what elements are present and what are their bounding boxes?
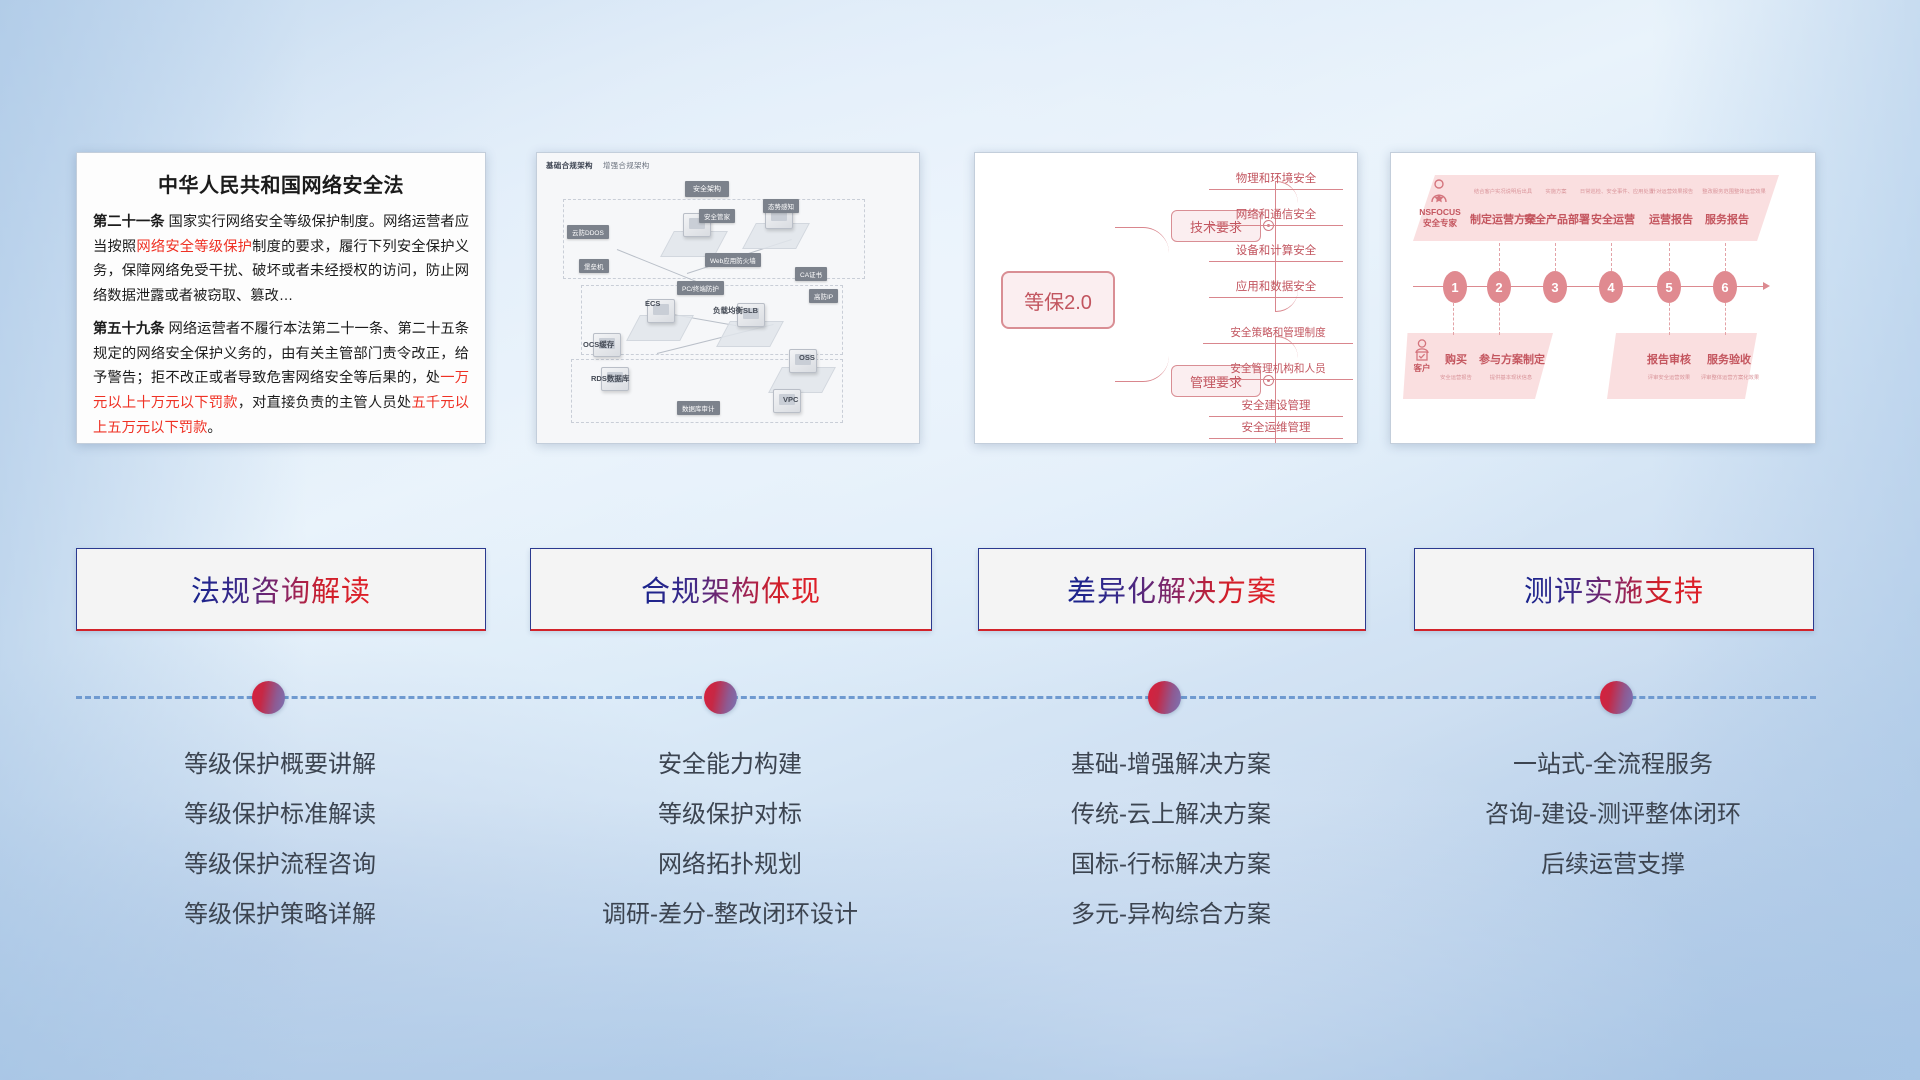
- timeline-dot-3[interactable]: [1148, 681, 1181, 714]
- mindmap-leaf-mgmt-3: 安全建设管理: [1209, 397, 1343, 417]
- customer-main-2: 参与方案制定: [1479, 351, 1543, 367]
- customer-sub-2: 提供基本现状信息: [1477, 373, 1545, 381]
- timeline-node-6[interactable]: 6: [1713, 271, 1737, 303]
- list-item: 传统-云上解决方案: [978, 790, 1364, 840]
- architecture-chip-4: Web应用防火墙: [705, 253, 761, 267]
- list-item: 后续运营支撑: [1414, 840, 1812, 890]
- mindmap-root-curve-bottom: [1115, 297, 1169, 382]
- law-paragraph-2: 第五十九条 网络运营者不履行本法第二十一条、第二十五条规定的网络安全保护义务的，…: [93, 317, 469, 440]
- list-item: 一站式-全流程服务: [1414, 740, 1812, 790]
- law-article-number-1: 第二十一条: [93, 214, 165, 230]
- slide-stage: 中华人民共和国网络安全法 第二十一条 国家实行网络安全等级保护制度。网络运营者应…: [0, 0, 1920, 1080]
- timeline-arrow-icon: [1763, 282, 1770, 290]
- law-seg-2-4: 。: [207, 420, 221, 436]
- timeline-dot-4[interactable]: [1600, 681, 1633, 714]
- timeline-dashed-line: [76, 696, 1816, 699]
- mindmap-root-curve-top: [1115, 227, 1169, 300]
- list-item: 多元-异构综合方案: [978, 890, 1364, 940]
- list-item: 等级保护概要讲解: [76, 740, 484, 790]
- law-card-body: 第二十一条 国家实行网络安全等级保护制度。网络运营者应当按照网络安全等级保护制度…: [77, 210, 485, 440]
- security-expert-icon: [1429, 179, 1449, 203]
- thumbnail-card-row: 中华人民共和国网络安全法 第二十一条 国家实行网络安全等级保护制度。网络运营者应…: [0, 0, 1920, 460]
- list-item: 基础-增强解决方案: [978, 740, 1364, 790]
- list-item: 等级保护流程咨询: [76, 840, 484, 890]
- list-item: 等级保护对标: [530, 790, 930, 840]
- list-compliance-architecture: 安全能力构建 等级保护对标 网络拓扑规划 调研-差分-整改闭环设计: [530, 740, 930, 940]
- mindmap-leaf-tech-2: 网络和通信安全: [1209, 206, 1343, 226]
- architecture-tab-basic[interactable]: 基础合规架构: [546, 161, 593, 170]
- mindmap-leaf-mgmt-2: 安全管理机构和人员: [1203, 361, 1353, 380]
- list-item: 国标-行标解决方案: [978, 840, 1364, 890]
- timeline-node-1[interactable]: 1: [1443, 271, 1467, 303]
- law-seg-1-1: 网络安全等级保护: [136, 239, 252, 255]
- customer-sub-3: 评审安全运营效果: [1637, 373, 1701, 381]
- timeline-dot-2[interactable]: [704, 681, 737, 714]
- timeline-connector-c1: [1453, 303, 1455, 335]
- mindmap-leaf-tech-1: 物理和环境安全: [1209, 170, 1343, 190]
- list-regulation-consulting: 等级保护概要讲解 等级保护标准解读 等级保护流程咨询 等级保护策略详解: [76, 740, 484, 940]
- service-timeline-thumbnail-card[interactable]: NSFOCUS安全专家 客户 1 2 3 4 5 6: [1390, 152, 1816, 444]
- timeline-connector-3: [1555, 243, 1557, 271]
- architecture-chip-5: PC/终端防护: [677, 281, 724, 295]
- law-article-number-2: 第五十九条: [93, 321, 165, 337]
- provider-role-label: NSFOCUS安全专家: [1409, 207, 1471, 228]
- architecture-chip-2: 云防DDOS: [567, 225, 609, 239]
- banner-assessment-support[interactable]: 测评实施支持: [1414, 548, 1814, 631]
- timeline-main-6: 服务报告: [1699, 211, 1755, 227]
- timeline-main-4: 安全运营: [1585, 211, 1641, 227]
- mindmap-curve-tech-down: [1275, 225, 1298, 312]
- timeline-node-5[interactable]: 5: [1657, 271, 1681, 303]
- banner-label-2: 合规架构体现: [641, 568, 821, 610]
- architecture-thumbnail-card[interactable]: 基础合规架构增强合规架构 安全架构: [536, 152, 920, 444]
- timeline-connector-6: [1725, 243, 1727, 271]
- customer-main-4: 服务验收: [1701, 351, 1757, 367]
- architecture-chip-11: RDS数据库: [591, 373, 629, 384]
- architecture-chip-1: 态势感知: [763, 199, 799, 213]
- list-item: 安全能力构建: [530, 740, 930, 790]
- list-differentiated-solutions: 基础-增强解决方案 传统-云上解决方案 国标-行标解决方案 多元-异构综合方案: [978, 740, 1364, 940]
- architecture-chip-6: CA证书: [795, 267, 827, 281]
- timeline-dot-1[interactable]: [252, 681, 285, 714]
- mindmap-leaf-tech-3: 设备和计算安全: [1209, 242, 1343, 262]
- timeline-node-2[interactable]: 2: [1487, 271, 1511, 303]
- architecture-chip-3: 堡垒机: [579, 259, 609, 273]
- customer-sub-4: 评审整体运营方案化效果: [1693, 373, 1767, 381]
- architecture-chip-9: 负载均衡SLB: [713, 305, 758, 316]
- timeline-main-5: 运营报告: [1643, 211, 1699, 227]
- timeline-node-3[interactable]: 3: [1543, 271, 1567, 303]
- list-item: 等级保护策略详解: [76, 890, 484, 940]
- timeline-sub-2: 结合客户实况说明后出具: [1469, 187, 1537, 195]
- list-item: 咨询-建设-测评整体闭环: [1414, 790, 1812, 840]
- timeline-main-3: 安全产品部署: [1521, 211, 1593, 227]
- architecture-diagram: 基础合规架构增强合规架构 安全架构: [537, 153, 919, 443]
- architecture-chip-13: VPC: [783, 395, 798, 404]
- service-timeline-diagram: NSFOCUS安全专家 客户 1 2 3 4 5 6: [1391, 153, 1815, 443]
- law-paragraph-1: 第二十一条 国家实行网络安全等级保护制度。网络运营者应当按照网络安全等级保护制度…: [93, 210, 469, 308]
- timeline-connector-2: [1499, 243, 1501, 271]
- architecture-chip-7: 高防IP: [809, 289, 838, 303]
- timeline-connector-5: [1669, 243, 1671, 271]
- banner-label-4: 测评实施支持: [1524, 568, 1704, 610]
- banner-compliance-architecture[interactable]: 合规架构体现: [530, 548, 932, 631]
- architecture-chip-10: OCS缓存: [583, 339, 614, 350]
- timeline-connector-c4: [1725, 303, 1727, 335]
- law-seg-2-2: ，对直接负责的主管人员处: [238, 395, 412, 411]
- banner-differentiated-solutions[interactable]: 差异化解决方案: [978, 548, 1366, 631]
- list-item: 等级保护标准解读: [76, 790, 484, 840]
- mindmap-leaf-tech-4: 应用和数据安全: [1209, 278, 1343, 298]
- banner-regulation-consulting[interactable]: 法规咨询解读: [76, 548, 486, 631]
- timeline-sub-3: 实施方案: [1531, 187, 1581, 195]
- law-thumbnail-card[interactable]: 中华人民共和国网络安全法 第二十一条 国家实行网络安全等级保护制度。网络运营者应…: [76, 152, 486, 444]
- customer-main-1: 购买: [1435, 351, 1477, 367]
- architecture-tabs: 基础合规架构增强合规架构: [546, 160, 660, 171]
- customer-icon: [1413, 339, 1431, 361]
- timeline-sub-6: 整改服务范围整体运营效果: [1691, 187, 1777, 195]
- architecture-chip-0: 安全管家: [699, 209, 735, 223]
- mindmap-leaf-mgmt-4: 安全运维管理: [1209, 419, 1343, 439]
- architecture-chip-12: OSS: [799, 353, 815, 362]
- timeline-connector-c2: [1499, 303, 1501, 335]
- architecture-chip-14: 数据库审计: [677, 401, 720, 415]
- customer-sub-1: 安全运营报告: [1433, 373, 1479, 381]
- list-item: 网络拓扑规划: [530, 840, 930, 890]
- timeline-node-4[interactable]: 4: [1599, 271, 1623, 303]
- architecture-title-chip: 安全架构: [685, 181, 729, 197]
- list-item: 调研-差分-整改闭环设计: [530, 890, 930, 940]
- list-assessment-support: 一站式-全流程服务 咨询-建设-测评整体闭环 后续运营支撑: [1414, 740, 1812, 890]
- mindmap-root-node: 等保2.0: [1001, 271, 1115, 329]
- customer-main-3: 报告审核: [1641, 351, 1697, 367]
- mindmap-thumbnail-card[interactable]: 等保2.0 技术要求 物理和环境安全 网络和通信安全 设备和计算安全 应用和数据…: [974, 152, 1358, 444]
- architecture-chip-8: ECS: [645, 299, 660, 308]
- timeline-connector-4: [1611, 243, 1613, 271]
- architecture-tab-enhanced[interactable]: 增强合规架构: [603, 161, 650, 170]
- banner-label-3: 差异化解决方案: [1067, 568, 1277, 610]
- mindmap-diagram: 等保2.0 技术要求 物理和环境安全 网络和通信安全 设备和计算安全 应用和数据…: [975, 153, 1357, 443]
- timeline-connector-c3: [1669, 303, 1671, 335]
- banner-label-1: 法规咨询解读: [191, 568, 371, 610]
- mindmap-leaf-mgmt-1: 安全策略和管理制度: [1203, 325, 1353, 344]
- law-card-title: 中华人民共和国网络安全法: [77, 169, 485, 198]
